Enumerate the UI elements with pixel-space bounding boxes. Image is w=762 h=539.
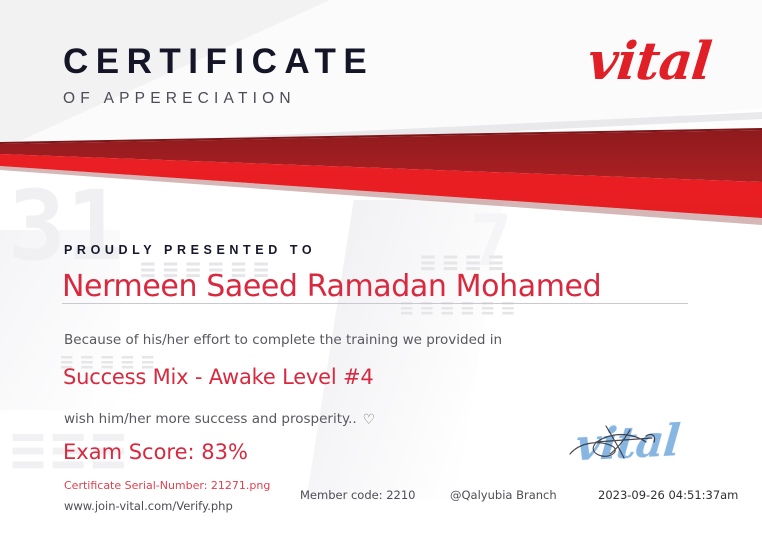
course-name: Success Mix - Awake Level #4 bbox=[63, 365, 374, 389]
page-subtitle: OF APPERECIATION bbox=[63, 90, 374, 108]
reason-text: Because of his/her effort to complete th… bbox=[64, 332, 502, 348]
vital-logo: vital bbox=[585, 36, 713, 88]
certificate-serial-number: Certificate Serial-Number: 21271.png bbox=[64, 479, 270, 492]
signature-icon bbox=[560, 412, 730, 492]
heart-icon: ♡ bbox=[363, 412, 376, 428]
page-title: CERTIFICATE bbox=[63, 44, 374, 79]
certificate-document: 31 7 ≡≡≡≡≡≡ ≡≡≡≡ ≡≡≡≡≡ ≡≡≡≡≡≡ ≡≡≡ CERTIF… bbox=[0, 0, 762, 539]
exam-score: Exam Score: 83% bbox=[63, 440, 248, 464]
issued-timestamp: 2023-09-26 04:51:37am bbox=[598, 488, 738, 502]
presented-to-label: PROUDLY PRESENTED TO bbox=[64, 243, 316, 257]
branch-name: @Qalyubia Branch bbox=[450, 488, 557, 502]
verify-url[interactable]: www.join-vital.com/Verify.php bbox=[64, 499, 233, 513]
wish-text: wish him/her more success and prosperity… bbox=[64, 411, 375, 428]
recipient-name-underline bbox=[62, 303, 688, 304]
recipient-name: Nermeen Saeed Ramadan Mohamed bbox=[62, 268, 601, 306]
certificate-title-block: CERTIFICATE OF APPERECIATION bbox=[63, 44, 374, 108]
member-code: Member code: 2210 bbox=[300, 488, 416, 502]
wish-text-label: wish him/her more success and prosperity… bbox=[64, 411, 357, 427]
verification-stamp: vital bbox=[560, 412, 730, 492]
